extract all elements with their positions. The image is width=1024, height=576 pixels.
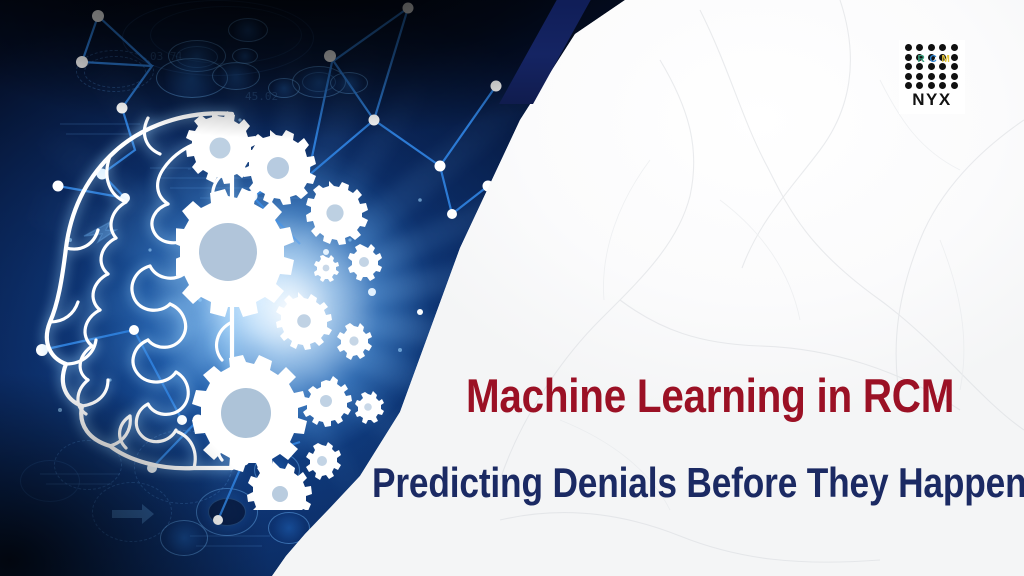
- logo-dot: [939, 73, 946, 80]
- logo-dot: [916, 44, 923, 51]
- logo-dot: [939, 82, 946, 89]
- page-subtitle: Predicting Denials Before They Happen: [372, 462, 910, 504]
- logo-dot: [928, 73, 935, 80]
- logo-letter-r: R: [918, 54, 926, 66]
- logo-dot: [905, 44, 912, 51]
- logo-acronym: RCM: [905, 54, 959, 66]
- logo-dot: [905, 82, 912, 89]
- logo-letter-m: M: [942, 54, 951, 66]
- page-title: Machine Learning in RCM: [466, 372, 913, 419]
- logo-dot: [951, 73, 958, 80]
- logo-dot: [905, 73, 912, 80]
- logo-dot: [939, 44, 946, 51]
- logo-dot: [916, 82, 923, 89]
- logo-dot: [928, 82, 935, 89]
- rcm-nyx-logo[interactable]: RCM NYX: [899, 40, 965, 114]
- logo-wordmark: NYX: [899, 90, 965, 110]
- logo-dot-grid: [905, 44, 959, 90]
- logo-letter-c: C: [930, 54, 938, 66]
- logo-dot: [951, 82, 958, 89]
- logo-dot: [928, 44, 935, 51]
- logo-dot: [916, 73, 923, 80]
- banner-graphic: 45.02 ----- -- 03 71: [0, 0, 1024, 576]
- logo-dot: [951, 44, 958, 51]
